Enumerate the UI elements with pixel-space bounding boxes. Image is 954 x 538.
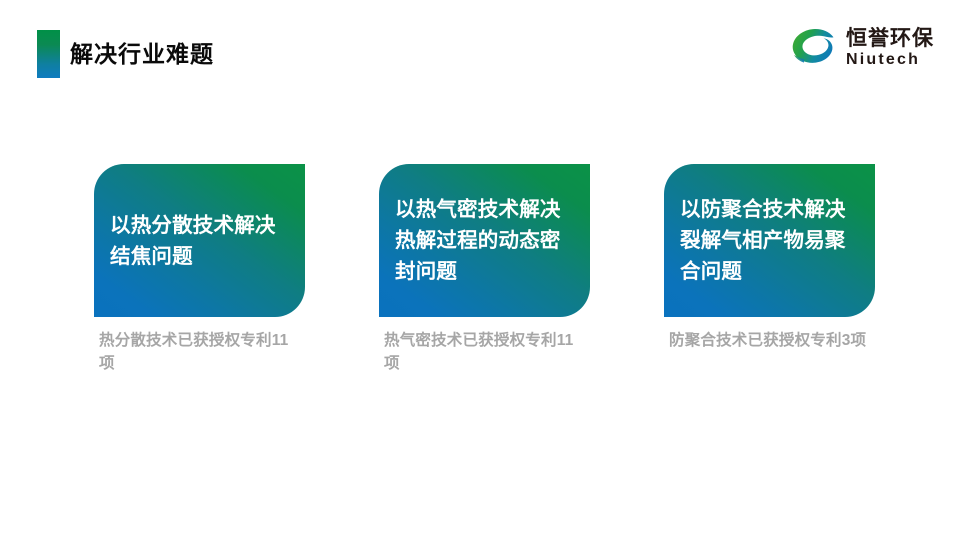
circular-ring-logo-mark-icon: [792, 28, 838, 68]
title-accent-bar-icon: [37, 30, 60, 78]
feature-card-2-box[interactable]: 以热气密技术解决热解过程的动态密封问题: [379, 164, 590, 317]
feature-card-group: 以热分散技术解决结焦问题 热分散技术已获授权专利11项 以热气密技术解决热解过程…: [94, 164, 884, 384]
feature-card-2[interactable]: 以热气密技术解决热解过程的动态密封问题 热气密技术已获授权专利11项: [379, 164, 590, 375]
feature-card-3-box[interactable]: 以防聚合技术解决裂解气相产物易聚合问题: [664, 164, 875, 317]
feature-card-1[interactable]: 以热分散技术解决结焦问题 热分散技术已获授权专利11项: [94, 164, 305, 375]
feature-card-3-subtitle: 防聚合技术已获授权专利3项: [664, 329, 874, 352]
feature-card-1-box[interactable]: 以热分散技术解决结焦问题: [94, 164, 305, 317]
feature-card-3-title: 以防聚合技术解决裂解气相产物易聚合问题: [680, 194, 859, 287]
slide-canvas: 解决行业难题: [0, 0, 954, 538]
feature-card-2-title: 以热气密技术解决热解过程的动态密封问题: [395, 194, 574, 287]
slide-header: 解决行业难题: [0, 0, 954, 100]
brand-logo: 恒誉环保 Niutech: [792, 28, 934, 68]
page-title: 解决行业难题: [70, 39, 214, 69]
feature-card-1-subtitle: 热分散技术已获授权专利11项: [94, 329, 304, 375]
feature-card-2-subtitle: 热气密技术已获授权专利11项: [379, 329, 589, 375]
brand-name-cn: 恒誉环保: [846, 28, 934, 49]
brand-logo-text: 恒誉环保 Niutech: [846, 28, 934, 68]
feature-card-3[interactable]: 以防聚合技术解决裂解气相产物易聚合问题 防聚合技术已获授权专利3项: [664, 164, 875, 352]
feature-card-1-title: 以热分散技术解决结焦问题: [110, 210, 289, 272]
brand-name-en: Niutech: [846, 52, 934, 68]
